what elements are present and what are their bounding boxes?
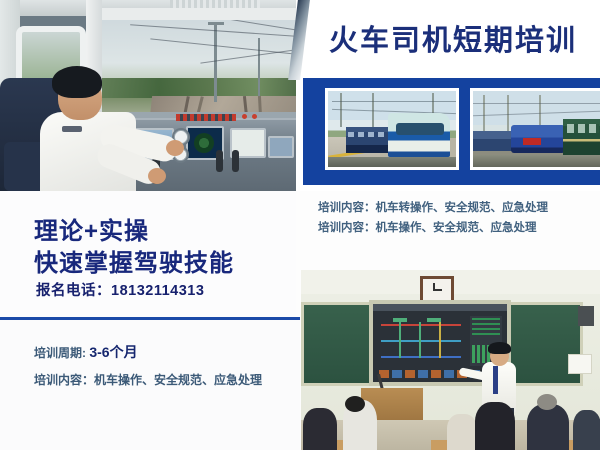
diagram-line: [381, 324, 461, 326]
chalkboard-left: [301, 302, 379, 386]
console-indicator-lights: [176, 114, 236, 121]
student-silhouette: [447, 414, 477, 450]
windshield-frame: [92, 8, 296, 20]
diagram-line: [439, 322, 441, 358]
wall-speaker: [578, 306, 594, 326]
training-period-value: 3-6个月: [89, 344, 137, 360]
page-title-text: 火车司机短期培训: [329, 27, 577, 56]
teal-locomotive-photo: [325, 88, 459, 170]
student-silhouette: [573, 410, 600, 450]
details-section: 培训周期: 3-6个月 培训内容：机车操作、安全规范、应急处理: [0, 320, 300, 450]
training-content-detail: 培训内容：机车操作、安全规范、应急处理: [34, 370, 284, 390]
student-silhouette: [345, 396, 365, 412]
classroom-training-photo: [301, 270, 600, 450]
panel-status-rows: [472, 318, 500, 338]
student-silhouette: [527, 404, 569, 450]
slogan-line-2: 快速掌握驾驶技能: [34, 243, 234, 278]
passenger-carriages: [473, 131, 513, 151]
diagram-label: [427, 318, 441, 322]
catenary-wire: [332, 101, 456, 102]
slogan-section: 理论+实操 快速掌握驾驶技能 报名电话：18132114313: [0, 191, 296, 318]
brake-lever: [232, 150, 239, 172]
student-silhouette: [475, 402, 515, 450]
brake-lever: [216, 150, 223, 172]
driver-hand: [166, 140, 184, 156]
photo-row: [325, 88, 600, 170]
training-content-band: 培训内容：机车转操作、安全规范、应急处理 培训内容：机车操作、安全规范、应急处理: [296, 191, 600, 253]
catenary-wire: [473, 103, 600, 104]
page-title: 火车司机短期培训: [306, 4, 600, 78]
signal-diagram: [379, 316, 465, 366]
locomotive-body: [388, 113, 450, 157]
driver-hair: [52, 66, 102, 98]
training-poster: 火车司机短期培训: [0, 0, 600, 450]
wall-poster: [568, 354, 592, 374]
instructor-hair: [488, 342, 511, 354]
console-red-button: [242, 114, 247, 119]
diagram-line: [381, 356, 461, 358]
console-display-aux: [268, 136, 294, 158]
diagram-label: [393, 318, 407, 322]
blue-photo-band: [303, 78, 600, 185]
instructor-tie: [493, 366, 498, 394]
diagram-line: [381, 340, 461, 342]
student-silhouette: [537, 394, 557, 410]
blue-locomotive-photo: [470, 88, 600, 170]
display-toolbar: [373, 304, 507, 311]
catenary-pole: [208, 22, 224, 25]
catenary-pole: [258, 38, 260, 96]
catenary-pole: [214, 22, 217, 102]
diagram-line: [399, 322, 401, 358]
training-content-line-1: 培训内容：机车转操作、安全规范、应急处理: [318, 199, 548, 215]
training-period: 培训周期: 3-6个月: [34, 342, 138, 362]
railway-track: [473, 155, 600, 167]
student-silhouette: [303, 408, 337, 450]
locomotive-windshield: [396, 123, 444, 135]
railway-track: [328, 157, 456, 167]
title-section: 火车司机短期培训: [296, 0, 600, 191]
training-content-line-2: 培训内容：机车操作、安全规范、应急处理: [318, 219, 537, 235]
slogan-line-1: 理论+实操: [34, 211, 149, 246]
locomotive-logo: [523, 138, 541, 145]
driver-epaulette: [62, 126, 82, 132]
enrollment-phone: 报名电话：18132114313: [36, 279, 204, 300]
console-red-button: [252, 114, 257, 119]
training-period-label: 培训周期:: [34, 346, 89, 360]
train-cab-driver-photo: [0, 0, 296, 191]
carriage-windows: [567, 124, 599, 133]
diagram-line: [419, 322, 421, 358]
driver-hand: [148, 168, 166, 184]
